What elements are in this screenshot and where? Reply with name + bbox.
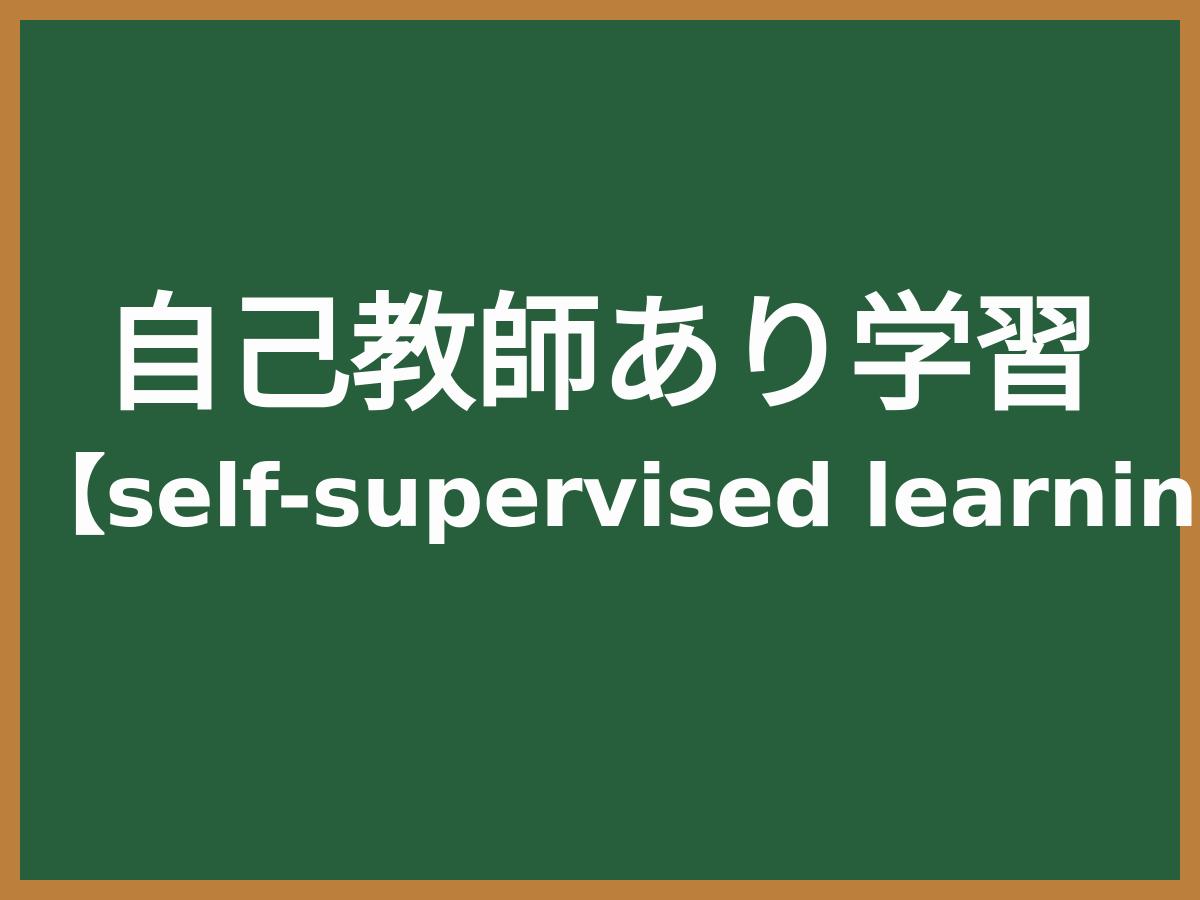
poster-frame: 自己教師あり学習 【self-supervised learning】 (0, 0, 1200, 900)
chalkboard-panel: 自己教師あり学習 【self-supervised learning】 (20, 20, 1180, 880)
page-subtitle-english: 【self-supervised learning】 (20, 418, 1180, 540)
page-title-japanese: 自己教師あり学習 (20, 292, 1180, 418)
title-block: 自己教師あり学習 【self-supervised learning】 (20, 292, 1180, 540)
